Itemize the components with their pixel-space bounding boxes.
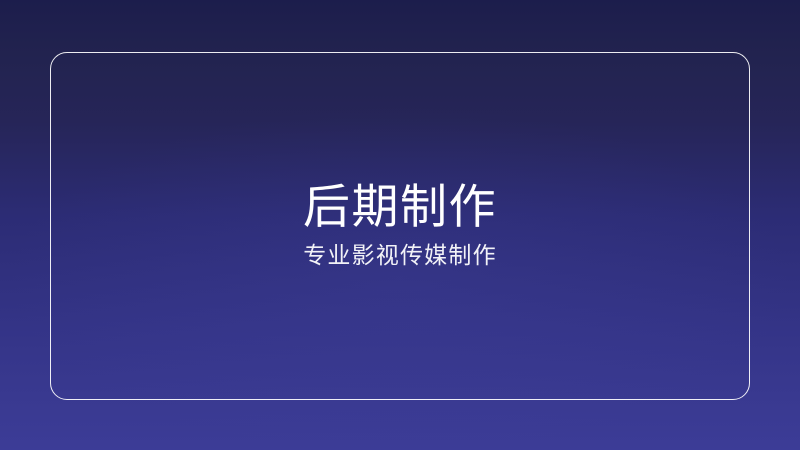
slide-subtitle: 专业影视传媒制作 [303,244,497,267]
slide-title: 后期制作 [303,183,497,230]
presentation-slide: 后期制作 专业影视传媒制作 [0,0,800,450]
slide-content-block: 后期制作 专业影视传媒制作 [0,0,800,450]
